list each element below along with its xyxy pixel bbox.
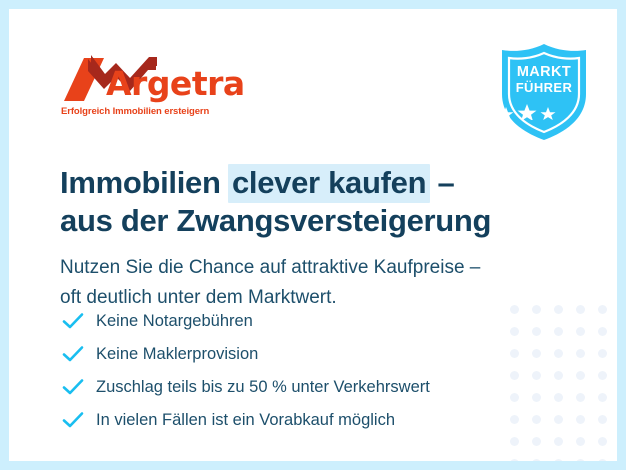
check-icon bbox=[62, 376, 84, 398]
dot bbox=[532, 459, 541, 462]
dot bbox=[598, 393, 607, 402]
market-leader-badge: MARKT FÜHRER bbox=[496, 42, 592, 142]
dot bbox=[598, 327, 607, 336]
check-icon bbox=[62, 343, 84, 365]
dot bbox=[598, 437, 607, 446]
dot bbox=[554, 437, 563, 446]
headline: Immobilien clever kaufen – aus der Zwang… bbox=[60, 164, 580, 240]
headline-text-before: Immobilien bbox=[60, 165, 229, 200]
headline-text-after: – bbox=[429, 165, 454, 200]
list-item-label: In vielen Fällen ist ein Vorabkauf mögli… bbox=[96, 410, 395, 430]
check-icon bbox=[62, 409, 84, 431]
dot bbox=[554, 459, 563, 462]
dot bbox=[576, 459, 585, 462]
headline-line-2: aus der Zwangsversteigerung bbox=[60, 202, 580, 240]
banner-canvas: Argetra Erfolgreich Immobilien ersteiger… bbox=[9, 9, 617, 461]
dot bbox=[598, 415, 607, 424]
dot bbox=[554, 371, 563, 380]
logo-tagline: Erfolgreich Immobilien ersteigern bbox=[61, 106, 209, 117]
dot bbox=[532, 437, 541, 446]
dot bbox=[532, 371, 541, 380]
dot bbox=[576, 371, 585, 380]
benefit-checklist: Keine Notargebühren Keine Maklerprovisio… bbox=[62, 306, 532, 438]
subheadline: Nutzen Sie die Chance auf attraktive Kau… bbox=[60, 253, 560, 313]
dot bbox=[576, 349, 585, 358]
list-item-label: Keine Maklerprovision bbox=[96, 344, 258, 364]
dot bbox=[598, 305, 607, 314]
dot bbox=[554, 415, 563, 424]
list-item-label: Keine Notargebühren bbox=[96, 311, 253, 331]
list-item: Keine Maklerprovision bbox=[62, 339, 532, 369]
logo-wordmark: Argetra bbox=[106, 67, 245, 100]
dot bbox=[554, 327, 563, 336]
dot bbox=[554, 393, 563, 402]
list-item: Zuschlag teils bis zu 50 % unter Verkehr… bbox=[62, 372, 532, 402]
list-item: In vielen Fällen ist ein Vorabkauf mögli… bbox=[62, 405, 532, 435]
dot bbox=[576, 415, 585, 424]
argetra-logo[interactable]: Argetra Erfolgreich Immobilien ersteiger… bbox=[60, 53, 260, 119]
dot bbox=[532, 349, 541, 358]
dot bbox=[510, 459, 519, 462]
list-item-label: Zuschlag teils bis zu 50 % unter Verkehr… bbox=[96, 377, 430, 397]
check-icon bbox=[62, 310, 84, 332]
dot bbox=[576, 393, 585, 402]
dot bbox=[532, 393, 541, 402]
shield-icon bbox=[496, 42, 592, 142]
dot bbox=[532, 327, 541, 336]
headline-highlight: clever kaufen bbox=[228, 164, 430, 203]
dot bbox=[554, 349, 563, 358]
headline-line-1: Immobilien clever kaufen – bbox=[60, 164, 580, 202]
dot bbox=[576, 327, 585, 336]
dot bbox=[598, 371, 607, 380]
dot bbox=[576, 437, 585, 446]
dot bbox=[576, 305, 585, 314]
promo-banner: Argetra Erfolgreich Immobilien ersteiger… bbox=[0, 0, 626, 470]
dot bbox=[598, 349, 607, 358]
list-item: Keine Notargebühren bbox=[62, 306, 532, 336]
dot bbox=[598, 459, 607, 462]
subheadline-line-1: Nutzen Sie die Chance auf attraktive Kau… bbox=[60, 253, 560, 283]
dot bbox=[532, 415, 541, 424]
